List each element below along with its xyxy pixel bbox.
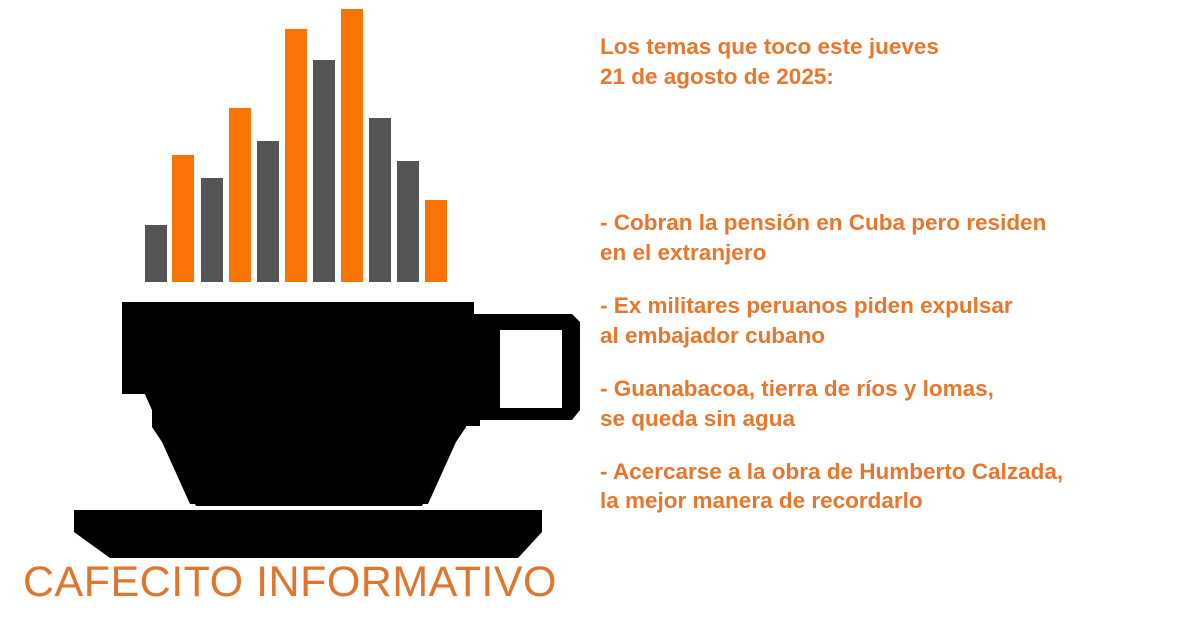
chart-bar bbox=[172, 155, 194, 282]
topic-item: - Cobran la pensión en Cuba pero residen… bbox=[600, 208, 1200, 268]
chart-bar bbox=[397, 161, 419, 282]
chart-bar bbox=[341, 9, 363, 282]
chart-bar bbox=[425, 200, 447, 282]
bar-chart-icon bbox=[145, 0, 470, 282]
brand-title: CAFECITO INFORMATIVO bbox=[0, 560, 580, 605]
topic-item: - Acercarse a la obra de Humberto Calzad… bbox=[600, 457, 1200, 517]
chart-bar bbox=[145, 225, 167, 282]
coffee-cup-icon bbox=[70, 292, 590, 560]
chart-bar bbox=[229, 108, 251, 282]
topic-item: - Guanabacoa, tierra de ríos y lomas, se… bbox=[600, 374, 1200, 434]
topic-list: - Cobran la pensión en Cuba pero residen… bbox=[600, 208, 1200, 516]
brand-logo: CAFECITO INFORMATIVO bbox=[0, 0, 580, 628]
chart-bar bbox=[257, 141, 279, 282]
chart-bar bbox=[369, 118, 391, 282]
poster-canvas: CAFECITO INFORMATIVO Los temas que toco … bbox=[0, 0, 1200, 628]
topic-item: - Ex militares peruanos piden expulsar a… bbox=[600, 291, 1200, 351]
chart-bar bbox=[285, 29, 307, 282]
topics-panel: Los temas que toco este jueves 21 de ago… bbox=[600, 0, 1200, 628]
chart-bar bbox=[313, 60, 335, 282]
chart-bar bbox=[201, 178, 223, 282]
headline-text: Los temas que toco este jueves 21 de ago… bbox=[600, 32, 1180, 92]
